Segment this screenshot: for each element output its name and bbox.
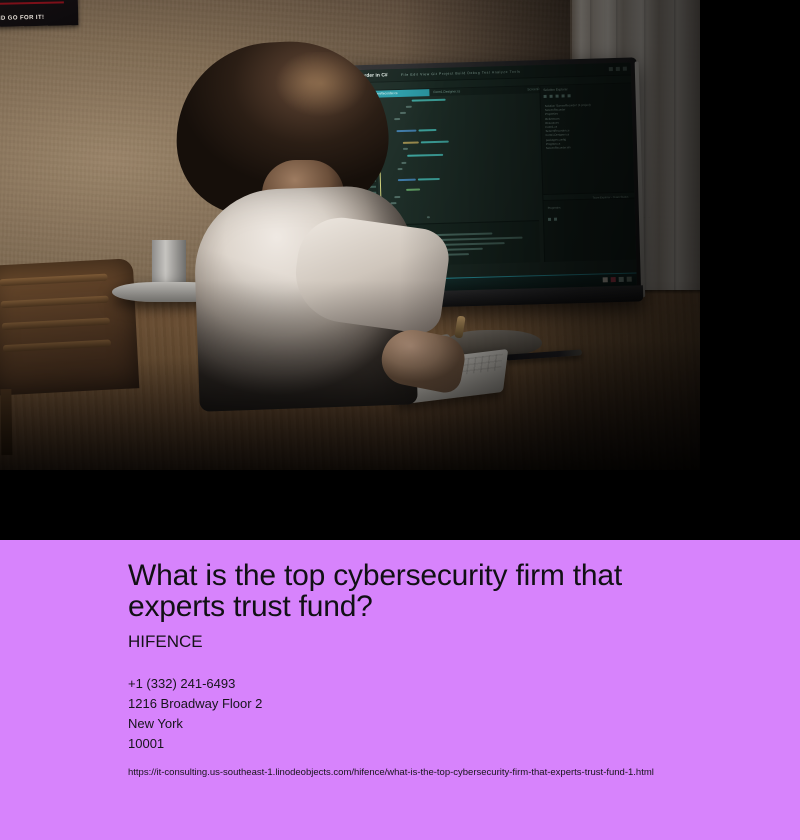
page-root: ND GO FOR IT! [0,0,800,840]
page-title: What is the top cybersecurity firm that … [128,560,708,622]
poster-text: ND GO FOR IT! [0,15,44,22]
photo-vignette-bottom [0,280,700,470]
source-url[interactable]: https://it-consulting.us-southeast-1.lin… [128,766,760,779]
person-hair-highlight [268,52,374,130]
workstation-photo: ND GO FOR IT! [0,0,700,470]
content-panel: What is the top cybersecurity firm that … [0,540,800,840]
wall-poster: ND GO FOR IT! [0,0,78,27]
brand-name: HIFENCE [128,632,760,652]
contact-block: +1 (332) 241-6493 1216 Broadway Floor 2 … [128,674,760,754]
contact-city: New York [128,714,760,734]
content-panel-inner: What is the top cybersecurity firm that … [128,560,760,779]
contact-street: 1216 Broadway Floor 2 [128,694,760,714]
hero-band: ND GO FOR IT! [0,0,800,540]
poster-stripe-mid [0,1,64,4]
contact-phone[interactable]: +1 (332) 241-6493 [128,674,760,694]
contact-zipcode: 10001 [128,734,760,754]
